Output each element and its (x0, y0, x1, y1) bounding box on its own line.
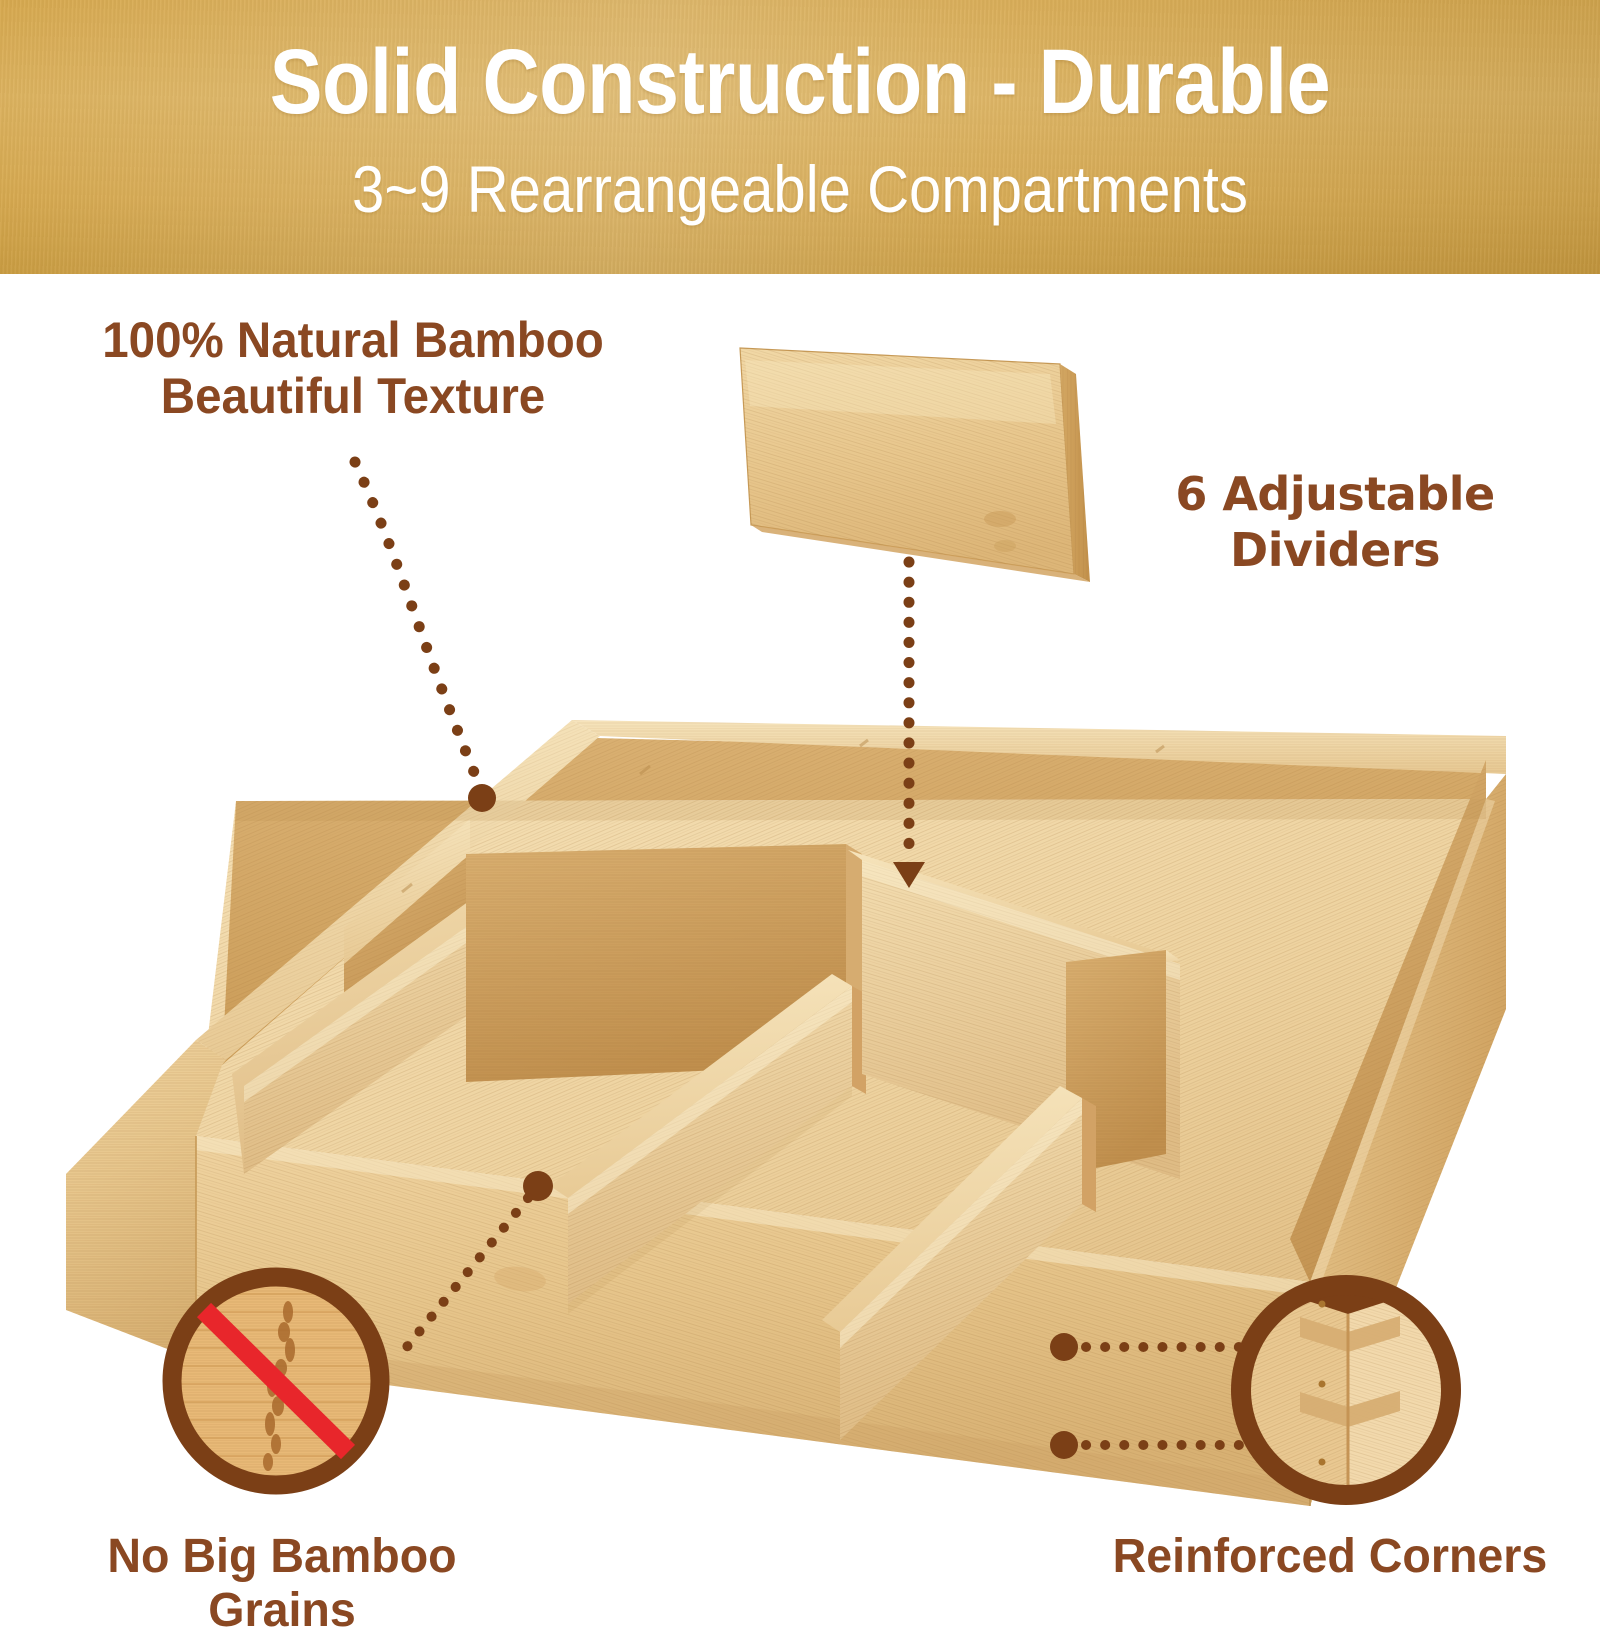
page-subtitle: 3~9 Rearrangeable Compartments (96, 155, 1504, 224)
loose-divider-plank (740, 348, 1090, 582)
page-title: Solid Construction - Durable (112, 36, 1488, 130)
callout-reinforced-corners: Reinforced Corners (1078, 1530, 1582, 1584)
callout-no-big-bamboo-grains: No Big Bamboo Grains (30, 1530, 534, 1638)
no-big-bamboo-grains-inset (172, 1277, 380, 1485)
callout-adjustable-dividers: 6 Adjustable Dividers (1085, 466, 1585, 578)
callout-natural-bamboo: 100% Natural Bamboo Beautiful Texture (44, 312, 662, 424)
header-banner: Solid Construction - Durable 3~9 Rearran… (0, 0, 1600, 274)
